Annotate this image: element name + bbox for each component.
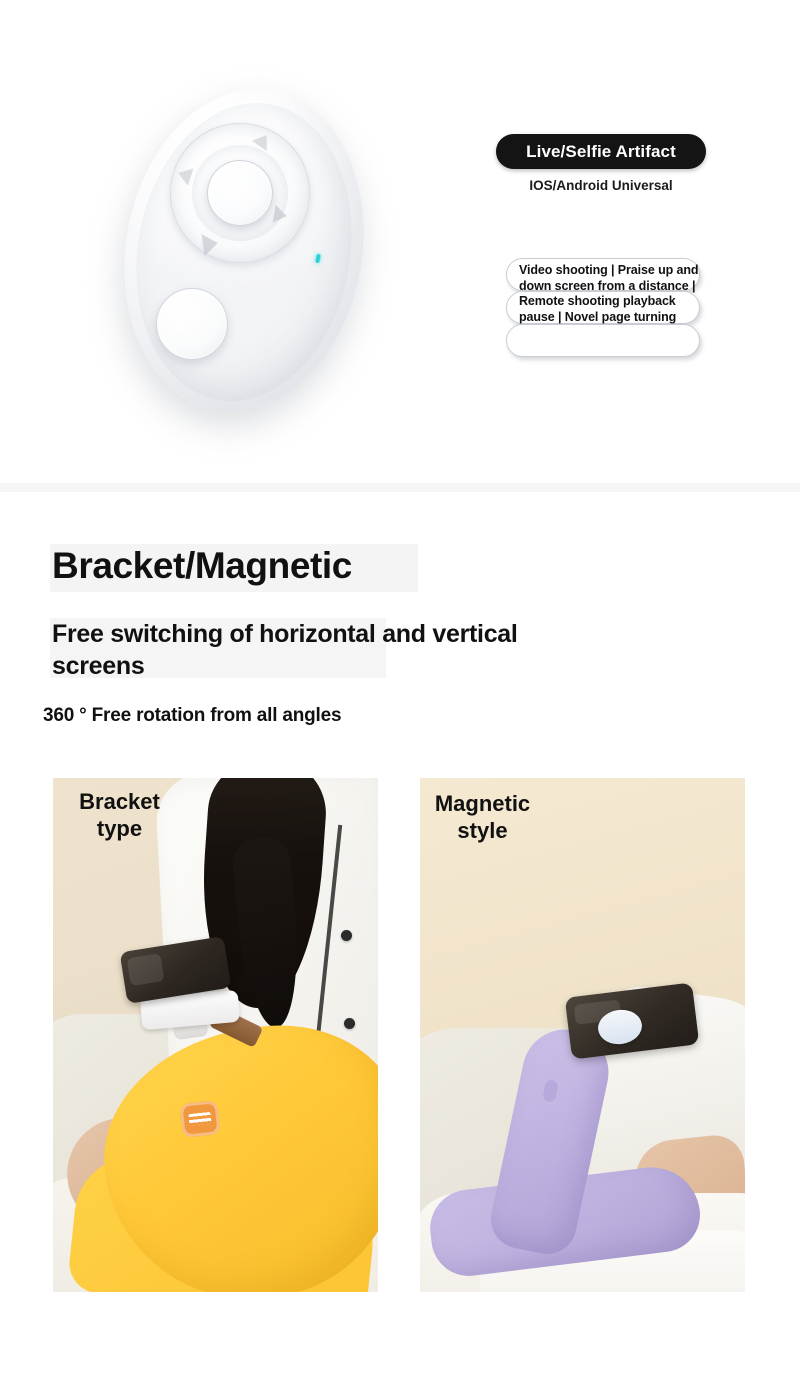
- badge-live-selfie-artifact: Live/Selfie Artifact: [496, 134, 706, 169]
- shirt-button: [341, 930, 352, 941]
- photo-bracket-type: Bracket type: [53, 778, 378, 1292]
- rotation-note: 360 ° Free rotation from all angles: [43, 705, 341, 727]
- shirt-button: [344, 1018, 355, 1029]
- page-title: Bracket/Magnetic: [52, 545, 352, 587]
- subheading: Free switching of horizontal and vertica…: [52, 618, 612, 682]
- section-divider: [0, 483, 800, 492]
- badge-label: Live/Selfie Artifact: [526, 142, 676, 162]
- hero-section: Live/Selfie Artifact IOS/Android Univers…: [0, 0, 800, 483]
- shutter-button[interactable]: [156, 288, 228, 360]
- remote-control-device: [108, 78, 380, 423]
- feature-pill-3: [506, 324, 700, 357]
- pillow-brand-tag: [179, 1100, 220, 1138]
- center-button[interactable]: [207, 160, 273, 226]
- platform-subtitle: IOS/Android Universal: [496, 178, 706, 193]
- photo-magnetic-style: Magnetic style: [420, 778, 745, 1292]
- feature-list-text: Video shooting | Praise up and down scre…: [519, 263, 705, 325]
- feature-pill-stack: Video shooting | Praise up and down scre…: [506, 258, 702, 366]
- arrow-down-icon[interactable]: [202, 232, 220, 256]
